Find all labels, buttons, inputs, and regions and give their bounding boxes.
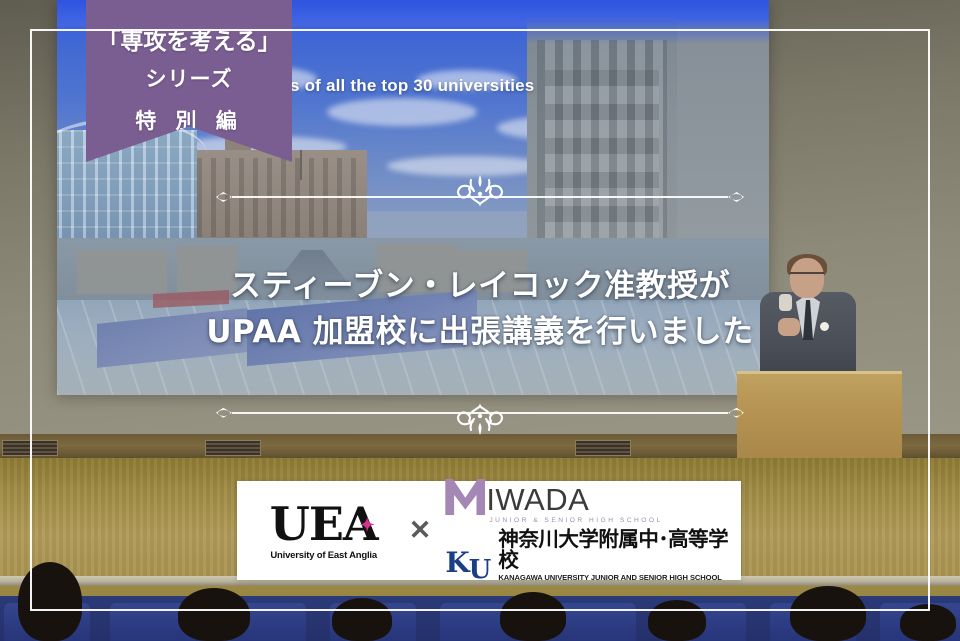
miwada-subtitle: JUNIOR & SENIOR HIGH SCHOOL <box>489 517 737 524</box>
miwada-wordmark: IWADA <box>486 485 589 515</box>
miwada-logo: IWADA <box>445 479 737 515</box>
audience-head <box>178 588 250 641</box>
ku-mark: KU <box>445 550 490 582</box>
school-logos: IWADA JUNIOR & SENIOR HIGH SCHOOL KU 神奈川… <box>445 479 737 582</box>
flourish-ornament-flipped-icon <box>443 401 517 441</box>
uea-wordmark: UEA ✦ <box>270 501 378 547</box>
ribbon-line-2: シリーズ <box>146 63 233 93</box>
upper-rule <box>216 196 744 198</box>
slide-text: s of all the top 30 universities <box>290 76 534 96</box>
title-line-2: UPAA 加盟校に出張講義を行いました <box>0 310 960 356</box>
wall-vent <box>575 440 631 456</box>
audience-head <box>500 592 566 641</box>
wall-vent <box>205 440 261 456</box>
audience-head <box>900 604 956 641</box>
uea-logo: UEA ✦ University of East Anglia <box>249 501 399 561</box>
uea-star-icon: ✦ <box>358 517 376 535</box>
title-block: スティーブン・レイコック准教授が UPAA 加盟校に出張講義を行いました <box>0 196 960 414</box>
title-line-1: スティーブン・レイコック准教授が <box>0 264 960 310</box>
miwada-m-mark <box>445 479 485 515</box>
ribbon-line-1: 「専攻を考える」 <box>97 30 280 56</box>
lower-rule <box>216 412 744 414</box>
kanagawa-logo: KU 神奈川大学附属中･高等学校 KANAGAWA UNIVERSITY JUN… <box>445 529 737 582</box>
partner-logo-box: UEA ✦ University of East Anglia ✕ IWADA … <box>237 481 741 580</box>
page-title: スティーブン・レイコック准教授が UPAA 加盟校に出張講義を行いました <box>0 264 960 356</box>
audience-head <box>332 598 392 641</box>
audience-head <box>18 562 82 641</box>
uea-subtitle: University of East Anglia <box>249 550 399 561</box>
wall-vent <box>2 440 58 456</box>
kanagawa-name-en: KANAGAWA UNIVERSITY JUNIOR AND SENIOR HI… <box>498 573 737 582</box>
title-card: s of all the top 30 universities <box>0 0 960 641</box>
kanagawa-name-jp: 神奈川大学附属中･高等学校 <box>498 529 737 570</box>
separator-x-icon: ✕ <box>409 515 432 546</box>
audience-head <box>648 600 706 641</box>
flourish-ornament-icon <box>443 169 517 209</box>
audience-head <box>790 586 866 641</box>
